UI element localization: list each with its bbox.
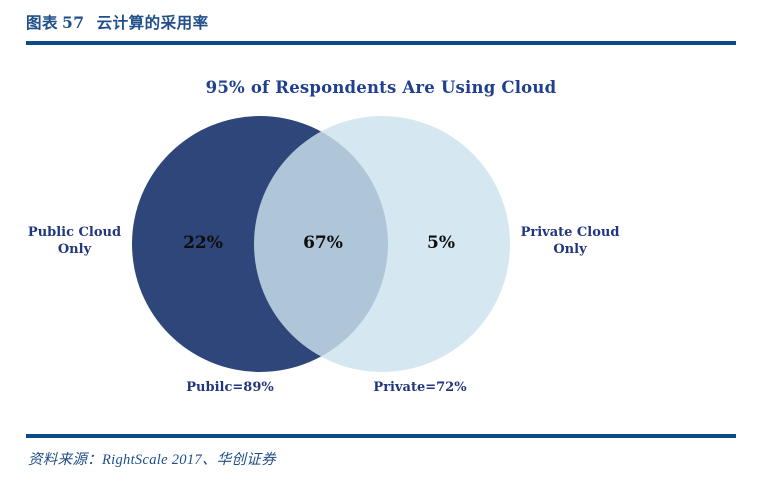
- venn-value-public-only: 22%: [158, 233, 248, 253]
- venn-label-public-line2: Only: [58, 242, 91, 257]
- venn-diagram: 22% 67% 5% Public Cloud Only Private Clo…: [0, 48, 762, 422]
- footer-divider: [26, 434, 736, 438]
- exhibit-title-text: 云计算的采用率: [97, 13, 209, 32]
- venn-label-private-line2: Only: [553, 242, 586, 257]
- page-title: 图表57云计算的采用率: [26, 10, 736, 36]
- venn-label-public-only: Public Cloud Only: [12, 224, 137, 258]
- venn-value-private-only: 5%: [396, 233, 486, 253]
- header-divider: [26, 41, 736, 45]
- exhibit-header: 图表57云计算的采用率: [26, 10, 736, 44]
- venn-total-private: Private=72%: [290, 380, 550, 395]
- venn-label-private-only: Private Cloud Only: [500, 224, 640, 258]
- venn-label-public-line1: Public Cloud: [28, 225, 121, 240]
- exhibit-label: 图表: [26, 13, 58, 32]
- venn-total-public: Pubilc=89%: [150, 380, 310, 395]
- venn-label-private-line1: Private Cloud: [521, 225, 620, 240]
- venn-value-overlap: 67%: [278, 233, 368, 253]
- chart-area: 95% of Respondents Are Using Cloud 22% 6…: [0, 48, 762, 422]
- exhibit-number: 57: [62, 13, 85, 32]
- source-note: 资料来源：RightScale 2017、华创证券: [28, 448, 276, 469]
